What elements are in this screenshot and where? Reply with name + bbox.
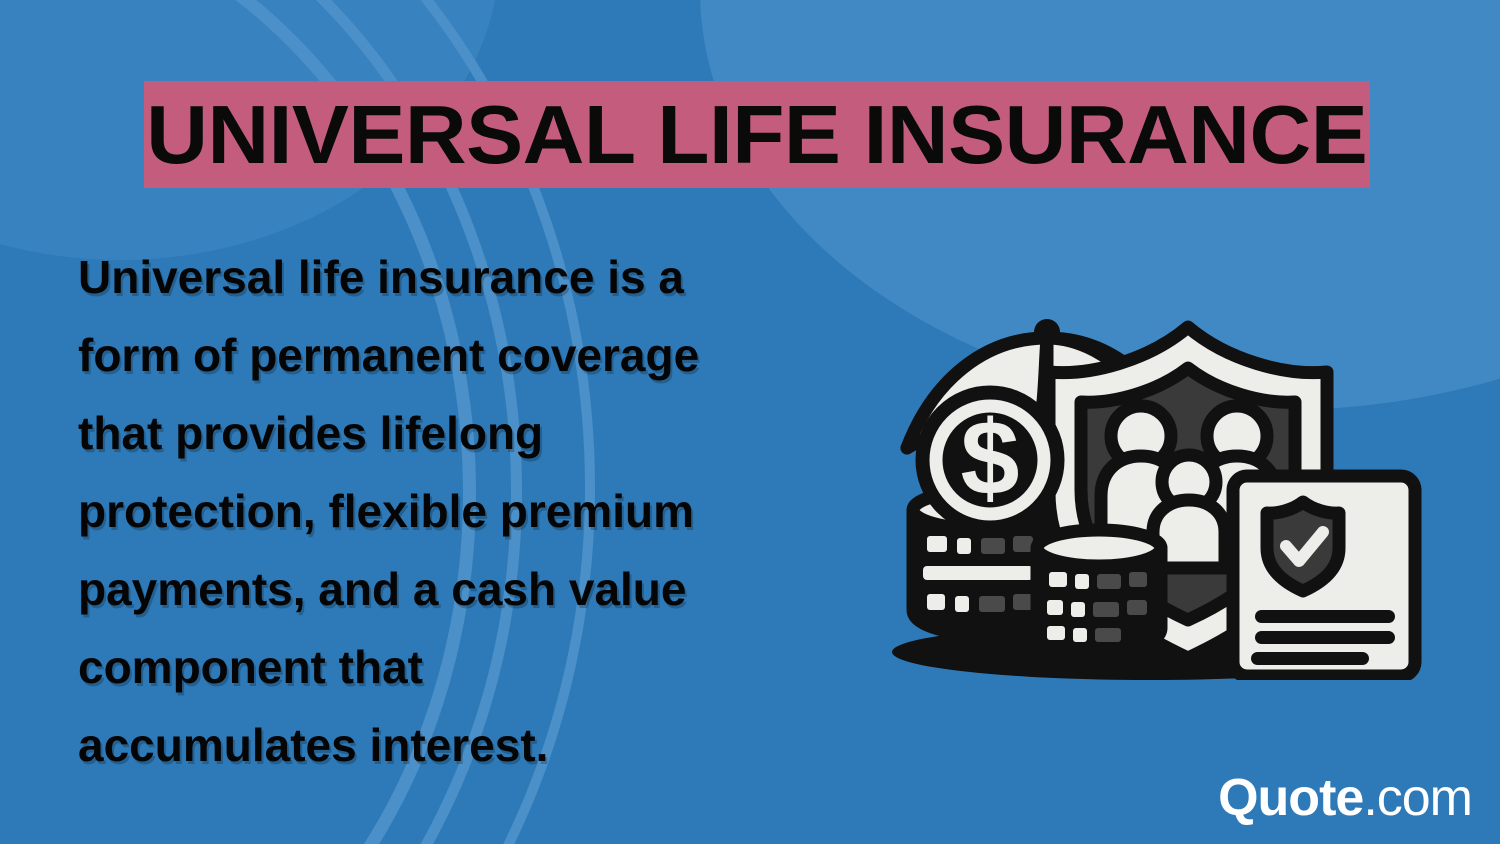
infographic-canvas: UNIVERSAL LIFE INSURANCE Universal life … [0, 0, 1500, 844]
page-title: UNIVERSAL LIFE INSURANCE [146, 93, 1367, 176]
body-paragraph: Universal life insurance is a form of pe… [78, 238, 878, 784]
quote-dot-com-logo[interactable]: Quote .com [1218, 772, 1472, 824]
insurance-illustration: .ln { fill:none; stroke:#111111; stroke-… [865, 280, 1435, 680]
dollar-coin-icon: $ [922, 392, 1058, 528]
body-line: that provides lifelong [78, 394, 878, 472]
title-banner: UNIVERSAL LIFE INSURANCE [144, 81, 1370, 188]
body-line: payments, and a cash value [78, 550, 878, 628]
policy-document-icon [1233, 476, 1415, 680]
body-line: component that [78, 628, 878, 706]
body-line: form of permanent coverage [78, 316, 878, 394]
body-line: accumulates interest. [78, 706, 878, 784]
shield-check-icon [1267, 502, 1339, 591]
svg-text:$: $ [961, 399, 1020, 517]
logo-tld: .com [1363, 772, 1472, 824]
body-line: protection, flexible premium [78, 472, 878, 550]
body-line: Universal life insurance is a [78, 238, 878, 316]
logo-wordmark: Quote [1218, 772, 1363, 824]
